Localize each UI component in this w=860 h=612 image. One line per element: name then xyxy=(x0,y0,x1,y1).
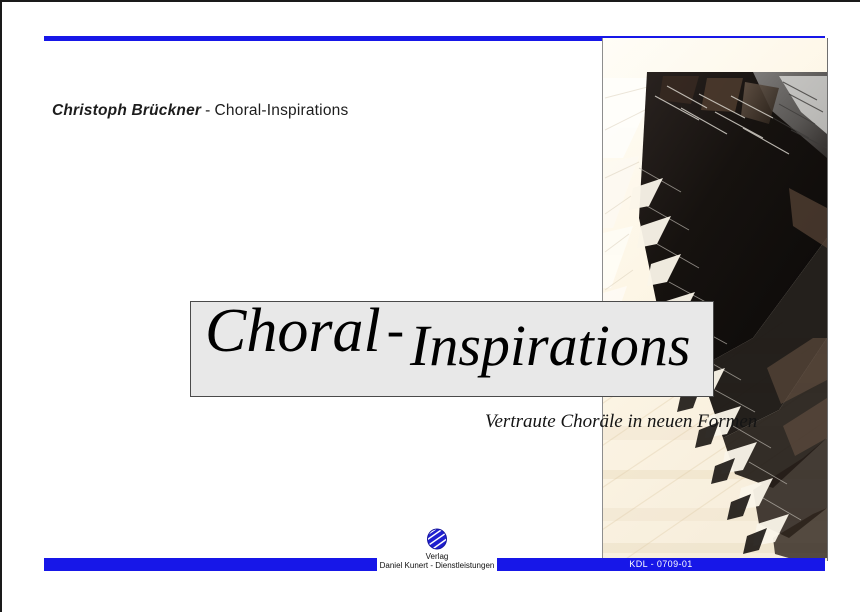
work-title: Choral-Inspirations xyxy=(215,102,349,119)
cover-subtitle: Vertraute Choräle in neuen Formen xyxy=(485,411,757,433)
header-separator: - xyxy=(201,102,214,119)
bottom-blue-bar-left xyxy=(44,558,377,571)
running-head: Christoph Brückner-Choral-Inspirations xyxy=(52,102,348,120)
publisher-block: Verlag Daniel Kunert - Dienstleistungen xyxy=(377,528,497,570)
publisher-line-1: Verlag xyxy=(377,552,497,561)
publisher-line-2: Daniel Kunert - Dienstleistungen xyxy=(377,561,497,570)
striped-sphere-icon xyxy=(425,528,449,550)
cover-title: Choral-Inspirations xyxy=(205,296,690,367)
author-name: Christoph Brückner xyxy=(52,102,201,119)
cover-page: Christoph Brückner-Choral-Inspirations xyxy=(0,0,860,612)
title-part-two: Inspirations xyxy=(410,313,690,378)
title-part-one: Choral xyxy=(205,297,381,365)
catalog-number: KDL - 0709-01 xyxy=(497,558,825,571)
title-dash: - xyxy=(381,302,410,359)
title-plaque: Choral-Inspirations xyxy=(190,301,714,397)
